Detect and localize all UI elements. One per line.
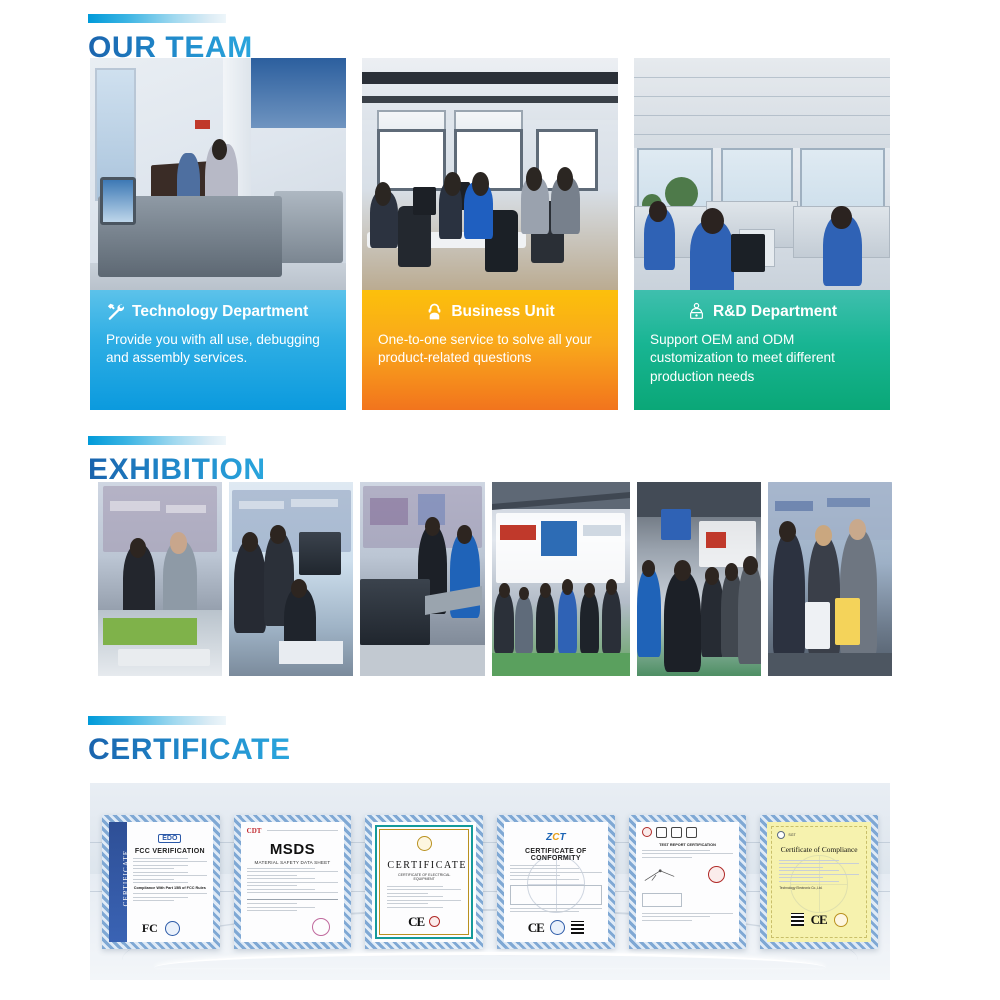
team-band-rnd: R&D Department Support OEM and ODM custo… <box>634 290 890 410</box>
team-photo-rnd <box>634 58 890 296</box>
headset-agent-icon <box>425 302 444 321</box>
certificate-subtitle: MATERIAL SAFETY DATA SHEET <box>247 860 339 865</box>
team-photo-technology <box>90 58 346 296</box>
certificate-showcase: CERTIFICATE EDO FCC VERIFICATION Complia… <box>90 783 890 980</box>
ul-mark-icon <box>656 827 667 838</box>
exhibition-photo-6[interactable] <box>768 482 892 676</box>
ce-mark-icon: CE <box>528 920 544 936</box>
team-photo-business <box>362 58 618 296</box>
intertek-logo-icon <box>642 827 652 837</box>
team-card-business[interactable]: Business Unit One-to-one service to solv… <box>362 58 618 410</box>
section-header-our-team: OUR TEAM <box>88 14 253 64</box>
team-card-title: R&D Department <box>713 303 837 320</box>
team-band-business: Business Unit One-to-one service to solv… <box>362 290 618 410</box>
team-card-title-row: R&D Department <box>646 302 878 321</box>
heading-accent-bar <box>88 14 226 23</box>
ce-mark-icon: CE <box>811 912 827 928</box>
ccc-seal-icon <box>429 916 440 927</box>
certificate-heading: FCC VERIFICATION <box>133 848 207 855</box>
exhibition-photo-4[interactable] <box>492 482 630 676</box>
section-header-exhibition: EXHIBITION <box>88 436 266 486</box>
cdt-logo: CDT <box>247 827 262 835</box>
certificate-heading: CERTIFICATE OF CONFORMITY <box>510 848 602 862</box>
heading-accent-bar <box>88 716 226 725</box>
certificate-card-test-report[interactable]: TEST REPORT CERTIFICATION <box>629 815 747 949</box>
team-card-title: Business Unit <box>451 303 554 320</box>
exhibition-photo-2[interactable] <box>229 482 353 676</box>
gold-seal-icon <box>834 913 848 927</box>
sgt-logo-icon <box>777 831 785 839</box>
page-title-certificate: CERTIFICATE <box>88 734 291 766</box>
exhibition-gallery <box>98 482 892 676</box>
exhibition-photo-1[interactable] <box>98 482 222 676</box>
certificate-marks: FC <box>109 921 213 936</box>
blue-round-seal-icon <box>550 920 565 935</box>
cdt-round-stamp-icon <box>312 918 330 936</box>
gold-crest-icon <box>417 836 432 851</box>
certificate-card-electrical[interactable]: CERTIFICATE CERTIFICATE OF ELECTRICAL EQ… <box>365 815 483 949</box>
certificate-heading: TEST REPORT CERTIFICATION <box>642 843 734 847</box>
qr-code-icon <box>571 921 584 934</box>
team-card-rnd[interactable]: R&D Department Support OEM and ODM custo… <box>634 58 890 410</box>
certificate-serif-title: CERTIFICATE <box>387 860 461 871</box>
certificate-card-conformity[interactable]: ZCT CERTIFICATE OF CONFORMITY CE <box>497 815 615 949</box>
certificate-card-msds[interactable]: CDT MSDS MATERIAL SAFETY DATA SHEET <box>234 815 352 949</box>
certificate-logo-text: SGT <box>788 833 795 837</box>
edo-logo: EDO <box>158 834 181 843</box>
fcc-mark-icon: FC <box>142 921 158 936</box>
team-card-row: Technology Department Provide you with a… <box>90 58 890 410</box>
section-header-certificate: CERTIFICATE <box>88 716 291 766</box>
page-title-exhibition: EXHIBITION <box>88 454 266 486</box>
e-mark-seal-icon <box>165 921 180 936</box>
team-card-title-row: Technology Department <box>102 302 334 321</box>
ul-mark-icon <box>686 827 697 838</box>
tools-icon <box>106 302 125 321</box>
exhibition-photo-3[interactable] <box>360 482 484 676</box>
certificate-serif-title: Certificate of Compliance <box>773 845 865 854</box>
team-card-desc: One-to-one service to solve all your pro… <box>374 331 606 368</box>
product-diagram-icon <box>642 862 684 888</box>
red-round-seal-icon <box>708 866 725 883</box>
team-card-title-row: Business Unit <box>374 302 606 321</box>
team-card-technology[interactable]: Technology Department Provide you with a… <box>90 58 346 410</box>
heading-accent-bar <box>88 436 226 445</box>
page-root: OUR TEAM Technology D <box>0 0 1000 1000</box>
certificate-big-title: MSDS <box>247 841 339 858</box>
team-card-desc: Provide you with all use, debugging and … <box>102 331 334 368</box>
team-card-desc: Support OEM and ODM customization to mee… <box>646 331 878 386</box>
ce-mark-icon: CE <box>408 914 424 930</box>
certificate-subtitle: CERTIFICATE OF ELECTRICAL EQUIPMENT <box>387 873 461 881</box>
certificate-footer-note: Technology Electronic Co.,Ltd. <box>773 886 865 890</box>
zct-logo: ZCT <box>546 832 565 843</box>
qr-code-icon <box>791 913 804 926</box>
team-card-title: Technology Department <box>132 303 308 320</box>
team-band-technology: Technology Department Provide you with a… <box>90 290 346 410</box>
certificate-card-fcc[interactable]: CERTIFICATE EDO FCC VERIFICATION Complia… <box>102 815 220 949</box>
person-laptop-icon <box>687 302 706 321</box>
exhibition-photo-5[interactable] <box>637 482 761 676</box>
certificate-footer-note: Compliance With Part 15B of FCC Rules <box>133 886 207 890</box>
ul-mark-icon <box>671 827 682 838</box>
certificate-card-compliance[interactable]: SGT Certificate of Compliance Technology… <box>760 815 878 949</box>
